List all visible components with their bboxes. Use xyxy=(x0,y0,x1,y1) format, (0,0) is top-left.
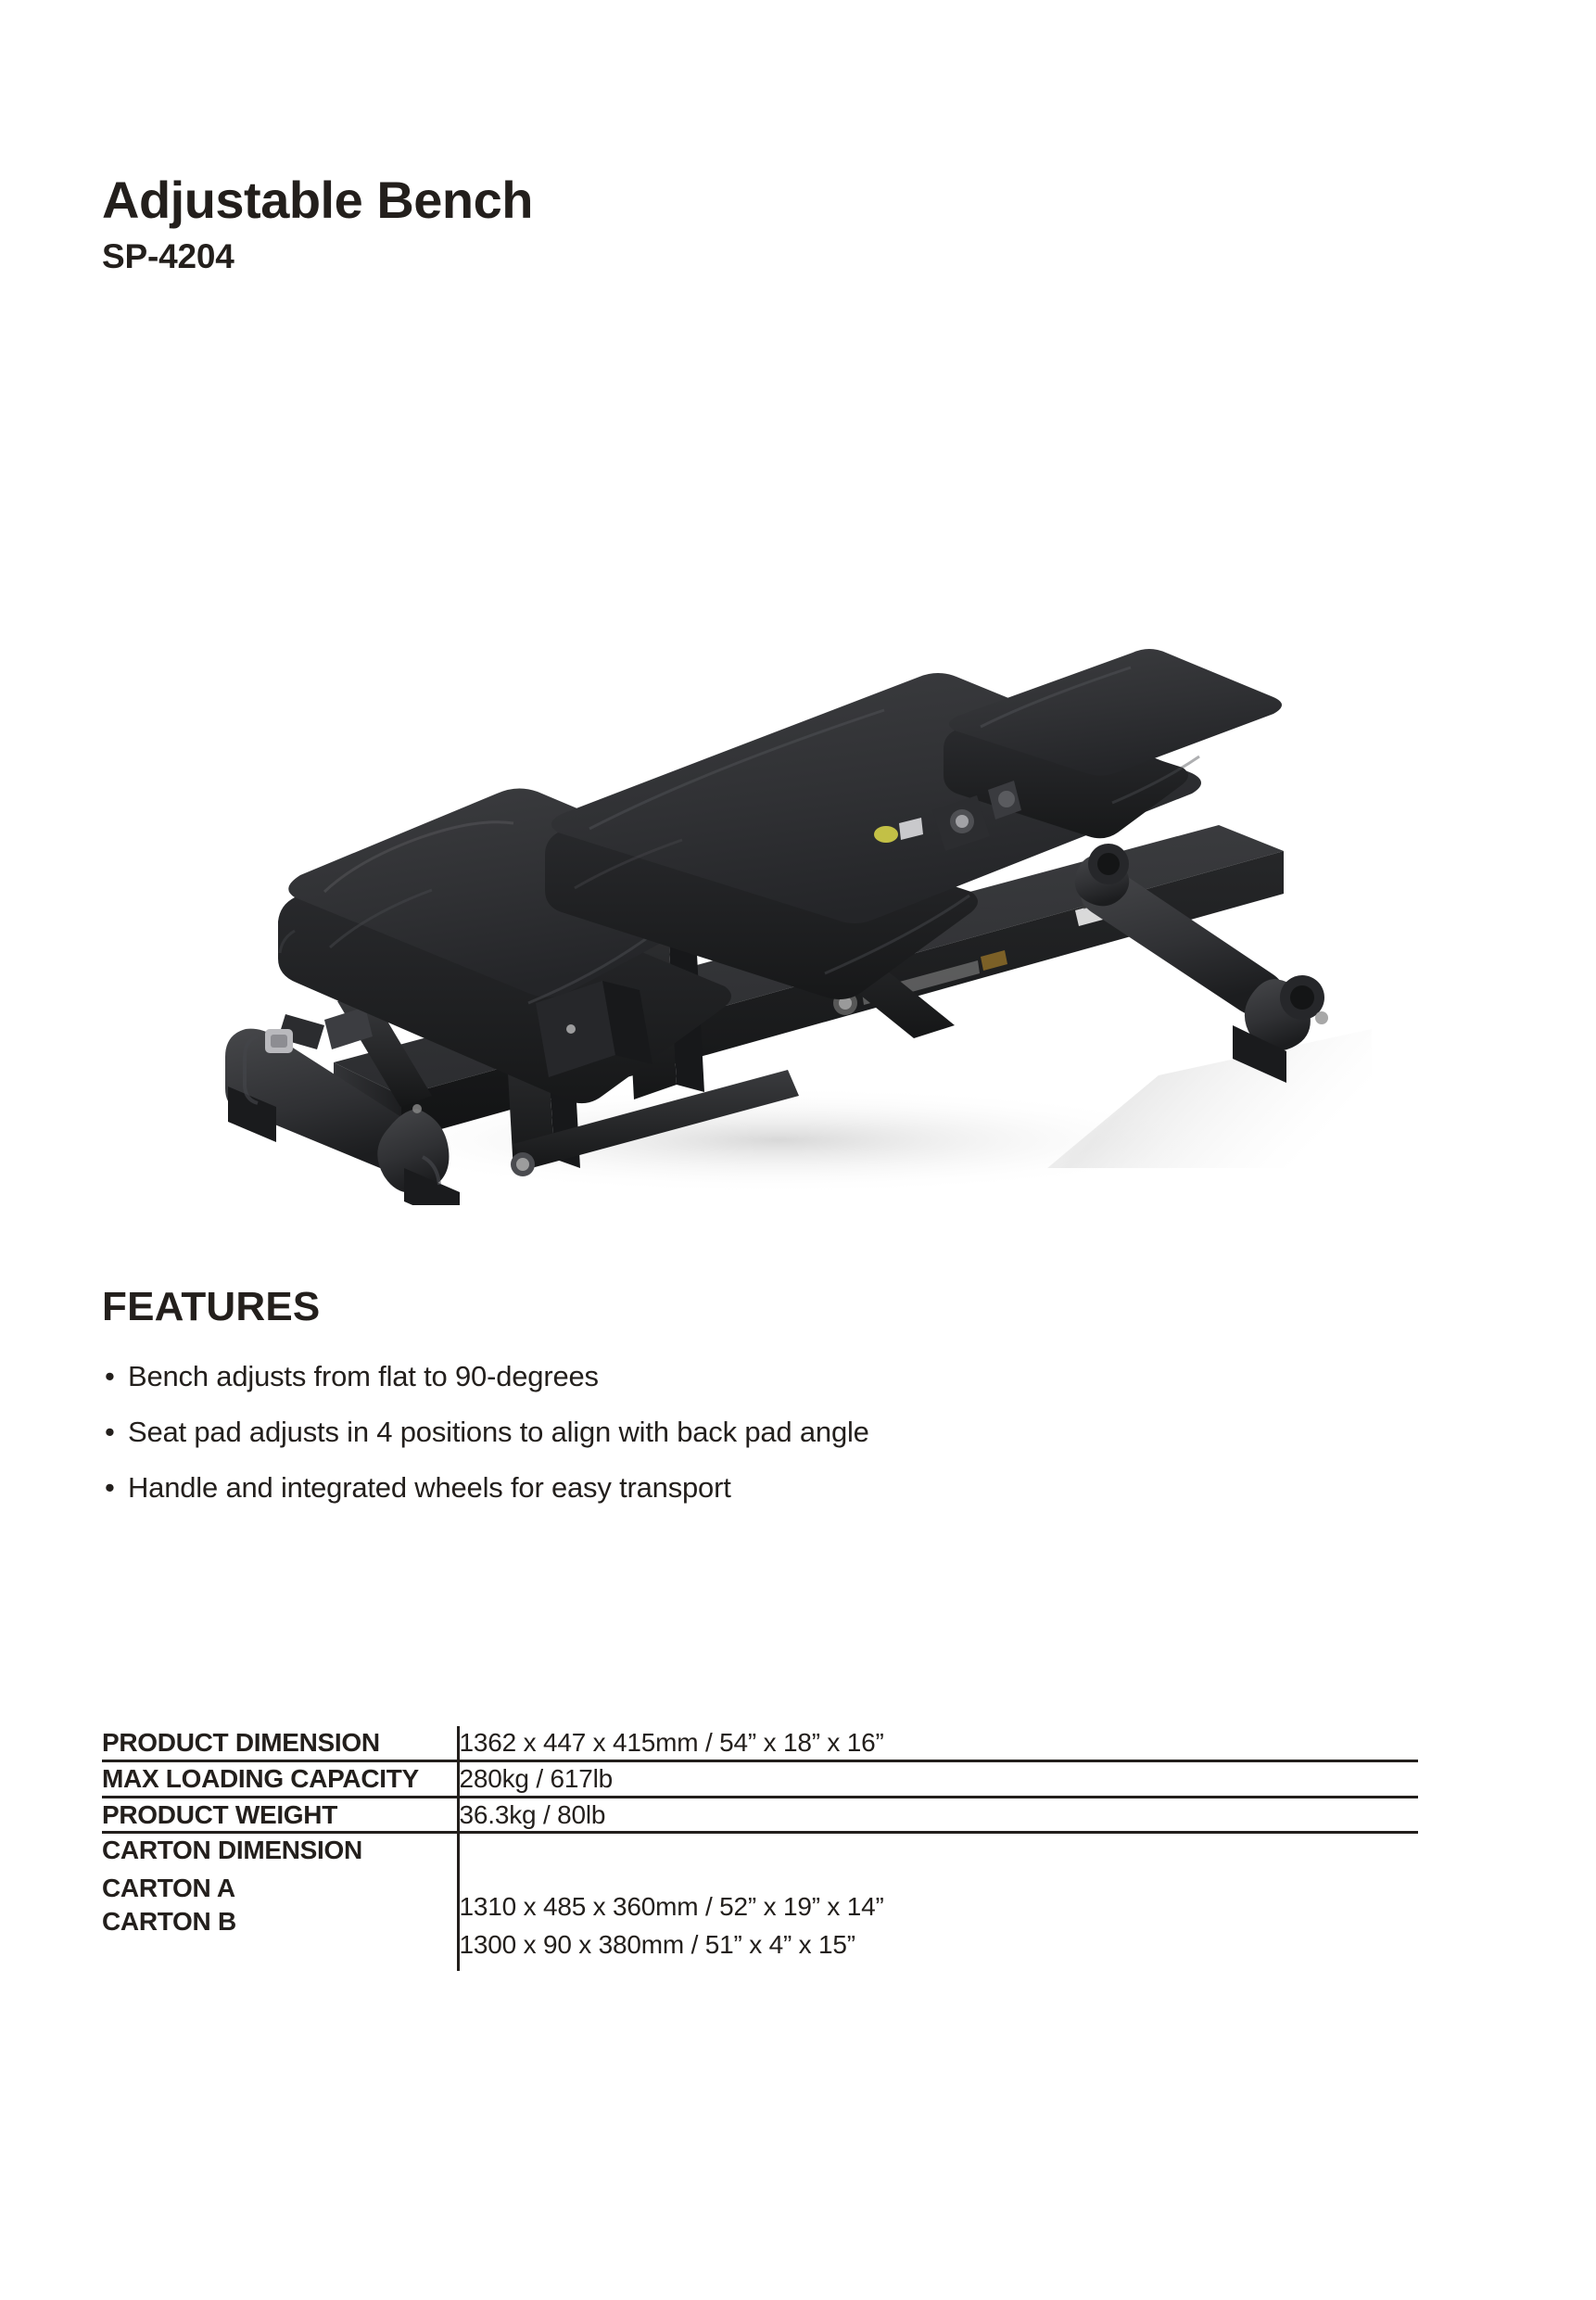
spec-value: 36.3kg / 80lb xyxy=(458,1797,1418,1833)
spec-label: MAX LOADING CAPACITY xyxy=(102,1760,458,1797)
product-model-number: SP-4204 xyxy=(102,238,533,276)
features-heading: FEATURES xyxy=(102,1284,1418,1330)
spec-value: 1362 x 447 x 415mm / 54” x 18” x 16” xyxy=(458,1726,1418,1760)
table-row: PRODUCT WEIGHT 36.3kg / 80lb xyxy=(102,1797,1418,1833)
adjustable-bench-illustration xyxy=(139,436,1372,1205)
bullet-icon: • xyxy=(105,1473,115,1502)
table-row: MAX LOADING CAPACITY 280kg / 617lb xyxy=(102,1760,1418,1797)
product-spec-sheet-page: Adjustable Bench SP-4204 xyxy=(0,0,1596,2300)
spec-label: PRODUCT WEIGHT xyxy=(102,1797,458,1833)
feature-item: • Bench adjusts from flat to 90-degrees xyxy=(102,1362,1418,1391)
features-section: FEATURES • Bench adjusts from flat to 90… xyxy=(102,1284,1418,1529)
bullet-icon: • xyxy=(105,1362,115,1391)
feature-item: • Handle and integrated wheels for easy … xyxy=(102,1473,1418,1502)
table-row: CARTON DIMENSION CARTON A CARTON B 1310 … xyxy=(102,1833,1418,1971)
feature-item-text: Seat pad adjusts in 4 positions to align… xyxy=(128,1416,869,1448)
table-row: PRODUCT DIMENSION 1362 x 447 x 415mm / 5… xyxy=(102,1726,1418,1760)
spec-value: 280kg / 617lb xyxy=(458,1760,1418,1797)
spec-table-element: PRODUCT DIMENSION 1362 x 447 x 415mm / 5… xyxy=(102,1726,1418,1971)
spec-sublabel-carton-a: CARTON A xyxy=(102,1872,457,1905)
spec-label: CARTON DIMENSION xyxy=(102,1834,457,1867)
bullet-icon: • xyxy=(105,1417,115,1446)
specifications-table: PRODUCT DIMENSION 1362 x 447 x 415mm / 5… xyxy=(102,1726,1418,1971)
spec-value-carton-b: 1300 x 90 x 380mm / 51” x 4” x 15” xyxy=(460,1928,1419,1962)
feature-item: • Seat pad adjusts in 4 positions to ali… xyxy=(102,1417,1418,1446)
features-list: • Bench adjusts from flat to 90-degrees … xyxy=(102,1362,1418,1502)
feature-item-text: Bench adjusts from flat to 90-degrees xyxy=(128,1360,599,1392)
feature-item-text: Handle and integrated wheels for easy tr… xyxy=(128,1471,731,1504)
spec-value-group: 1310 x 485 x 360mm / 52” x 19” x 14” 130… xyxy=(458,1833,1418,1971)
page-title: Adjustable Bench xyxy=(102,172,533,227)
page-header: Adjustable Bench SP-4204 xyxy=(102,172,533,276)
spec-label: PRODUCT DIMENSION xyxy=(102,1726,458,1760)
back-pad-pop-pin xyxy=(874,826,898,843)
back-shadow xyxy=(1047,1029,1372,1168)
spec-value-carton-a: 1310 x 485 x 360mm / 52” x 19” x 14” xyxy=(460,1890,1419,1924)
product-image xyxy=(139,436,1372,1205)
spec-label-group: CARTON DIMENSION CARTON A CARTON B xyxy=(102,1833,458,1971)
spec-sublabel-carton-b: CARTON B xyxy=(102,1905,457,1938)
